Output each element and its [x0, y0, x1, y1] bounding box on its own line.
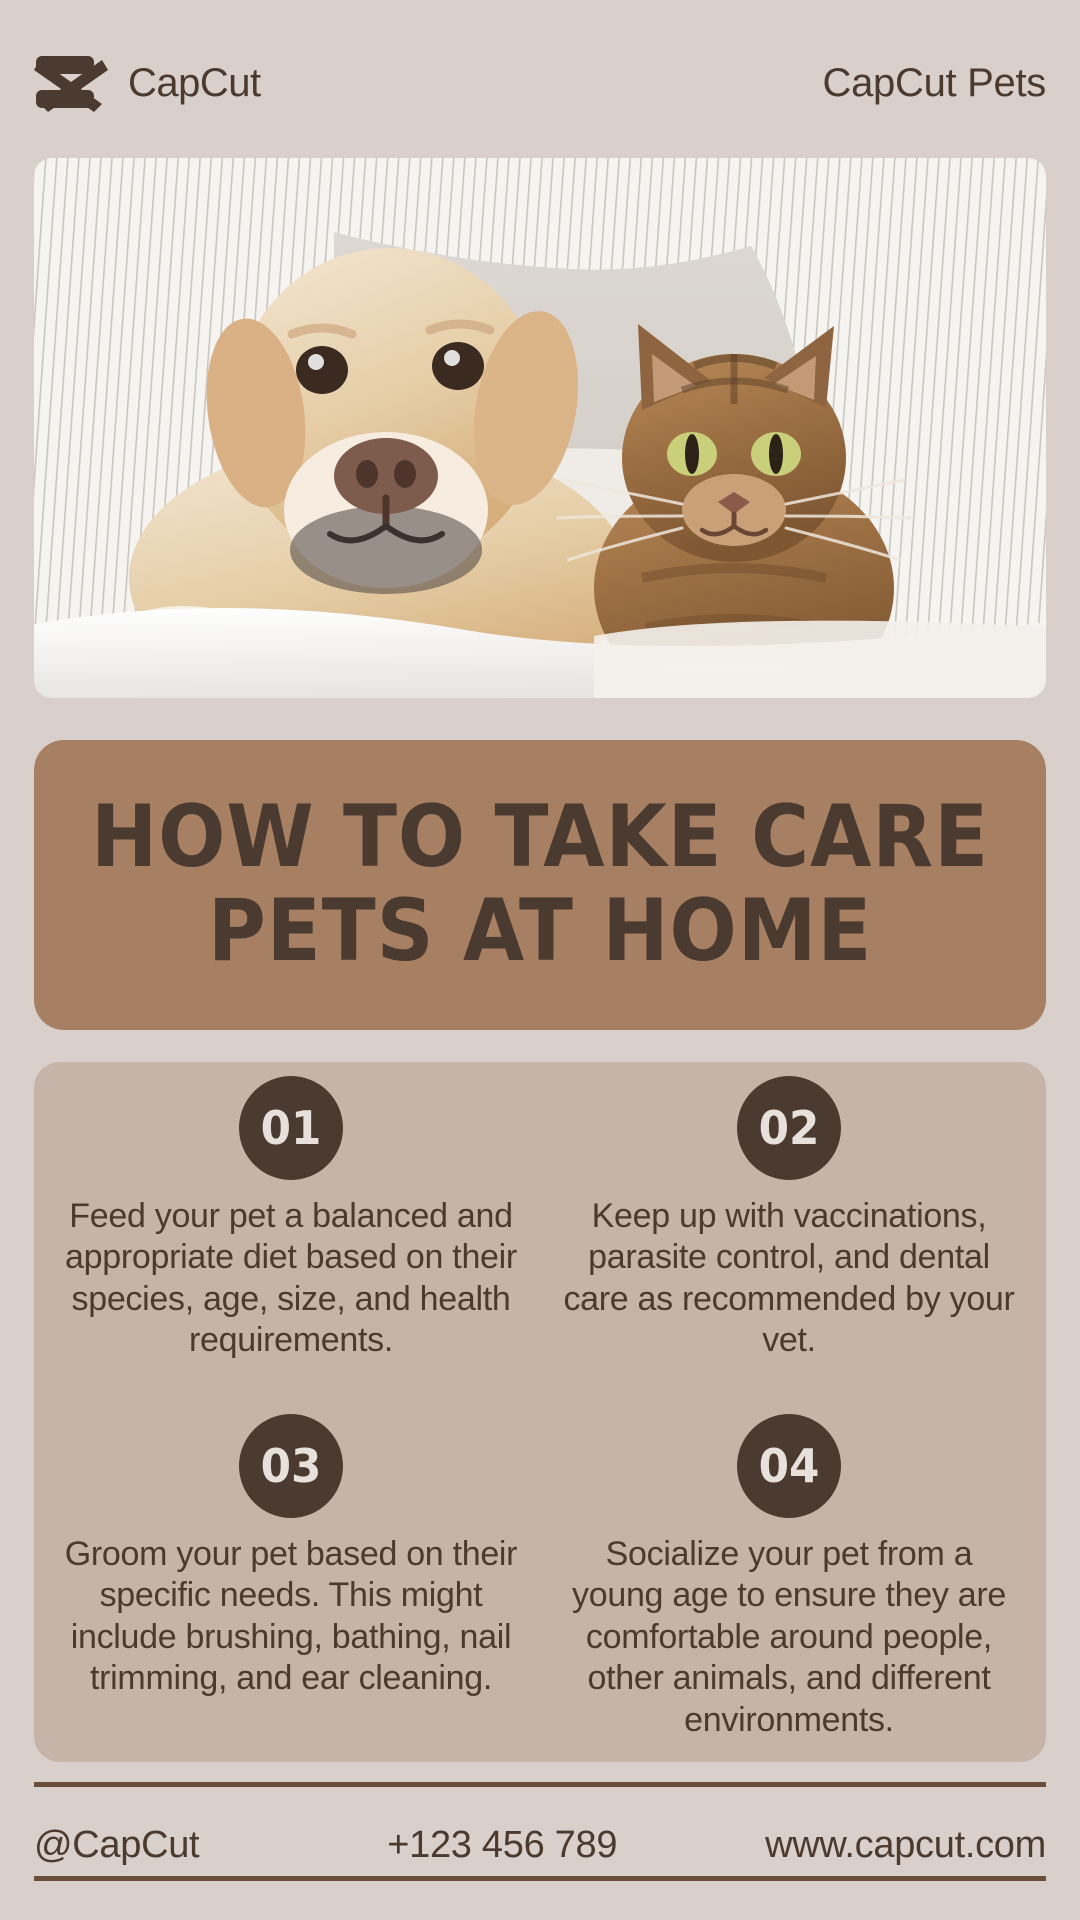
tip-text-01: Feed your pet a balanced and appropriate… — [60, 1196, 522, 1362]
footer-divider-top — [34, 1782, 1046, 1787]
tip-text-03: Groom your pet based on their specific n… — [60, 1534, 522, 1700]
tip-item-01: 01 Feed your pet a balanced and appropri… — [42, 1076, 540, 1414]
tip-number-badge-01: 01 — [239, 1076, 343, 1180]
tip-item-02: 02 Keep up with vaccinations, parasite c… — [540, 1076, 1038, 1414]
tip-number-04: 04 — [759, 1443, 820, 1489]
tip-item-03: 03 Groom your pet based on their specifi… — [42, 1414, 540, 1752]
tip-number-03: 03 — [261, 1443, 322, 1489]
title-banner: HOW TO TAKE CARE PETS AT HOME — [34, 740, 1046, 1030]
title-line-1: HOW TO TAKE CARE — [91, 794, 989, 882]
tip-text-04: Socialize your pet from a young age to e… — [558, 1534, 1020, 1741]
footer-divider-bottom — [34, 1876, 1046, 1881]
tip-number-badge-03: 03 — [239, 1414, 343, 1518]
title-line-2: PETS AT HOME — [208, 888, 872, 976]
hero-photo — [34, 158, 1046, 698]
header-right-label: CapCut Pets — [823, 63, 1046, 103]
header: CapCut CapCut Pets — [34, 48, 1046, 118]
tip-number-02: 02 — [759, 1105, 820, 1151]
tip-number-01: 01 — [261, 1105, 322, 1151]
footer-phone[interactable]: +123 456 789 — [387, 1824, 617, 1867]
tips-card: 01 Feed your pet a balanced and appropri… — [34, 1062, 1046, 1762]
tip-number-badge-04: 04 — [737, 1414, 841, 1518]
tip-number-badge-02: 02 — [737, 1076, 841, 1180]
footer-website[interactable]: www.capcut.com — [765, 1824, 1046, 1867]
brand-name: CapCut — [128, 63, 261, 103]
brand: CapCut — [34, 52, 261, 114]
infographic-poster: CapCut CapCut Pets — [0, 0, 1080, 1920]
tip-item-04: 04 Socialize your pet from a young age t… — [540, 1414, 1038, 1752]
tip-text-02: Keep up with vaccinations, parasite cont… — [558, 1196, 1020, 1362]
footer-social-handle[interactable]: @CapCut — [34, 1824, 199, 1867]
capcut-bowtie-logo-icon — [34, 52, 108, 114]
